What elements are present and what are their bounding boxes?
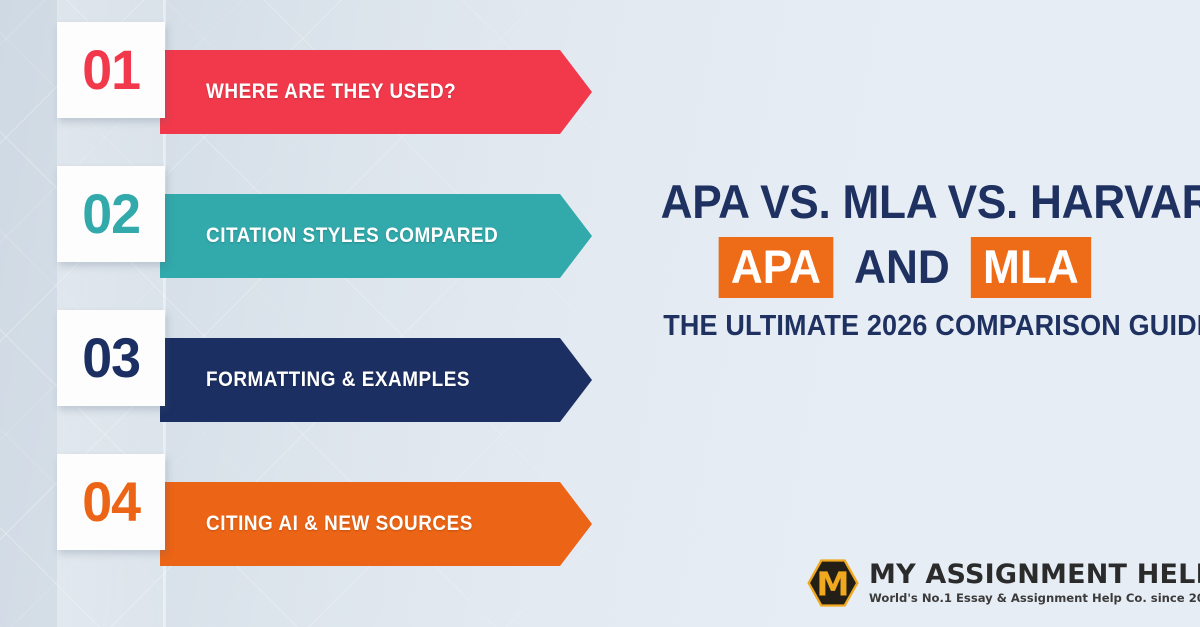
step-item: FORMATTING & EXAMPLES 03 bbox=[0, 310, 640, 450]
headline-title: APA VS. MLA VS. HARVARD bbox=[661, 178, 1150, 225]
steps-list: WHERE ARE THEY USED? 01 CITATION STYLES … bbox=[0, 0, 640, 627]
step-number: 04 bbox=[82, 474, 140, 530]
headline-chip-mla: MLA bbox=[971, 237, 1091, 298]
logo-tagline: World's No.1 Essay & Assignment Help Co.… bbox=[869, 592, 1200, 605]
svg-text:M: M bbox=[816, 565, 849, 604]
step-item: CITING AI & NEW SOURCES 04 bbox=[0, 454, 640, 594]
step-item: WHERE ARE THEY USED? 01 bbox=[0, 22, 640, 162]
step-number-card: 04 bbox=[57, 454, 165, 550]
brand-logo[interactable]: M MY ASSIGNMENT HELP World's No.1 Essay … bbox=[806, 556, 1200, 610]
step-number-card: 02 bbox=[57, 166, 165, 262]
headline-and-word: AND bbox=[841, 237, 963, 298]
hexagon-m-logo-icon: M bbox=[806, 556, 860, 610]
headline-chip-apa: APA bbox=[719, 237, 833, 298]
step-arrow[interactable]: FORMATTING & EXAMPLES bbox=[160, 338, 592, 422]
step-label: WHERE ARE THEY USED? bbox=[206, 80, 456, 104]
step-number-card: 03 bbox=[57, 310, 165, 406]
step-item: CITATION STYLES COMPARED 02 bbox=[0, 166, 640, 306]
step-label: FORMATTING & EXAMPLES bbox=[206, 368, 470, 392]
step-number: 02 bbox=[82, 186, 140, 242]
headline-subtitle-row: APA AND MLA bbox=[645, 237, 1165, 298]
step-label: CITING AI & NEW SOURCES bbox=[206, 512, 473, 536]
step-label: CITATION STYLES COMPARED bbox=[206, 224, 498, 248]
logo-text-block: MY ASSIGNMENT HELP World's No.1 Essay & … bbox=[869, 561, 1200, 605]
logo-wordmark: MY ASSIGNMENT HELP bbox=[869, 561, 1200, 589]
step-arrow[interactable]: CITING AI & NEW SOURCES bbox=[160, 482, 592, 566]
headline-block: APA VS. MLA VS. HARVARD APA AND MLA THE … bbox=[645, 178, 1165, 341]
step-number: 03 bbox=[82, 330, 140, 386]
headline-tagline: THE ULTIMATE 2026 COMPARISON GUIDE bbox=[663, 312, 1147, 341]
step-arrow[interactable]: WHERE ARE THEY USED? bbox=[160, 50, 592, 134]
step-number: 01 bbox=[82, 42, 140, 98]
step-arrow[interactable]: CITATION STYLES COMPARED bbox=[160, 194, 592, 278]
step-number-card: 01 bbox=[57, 22, 165, 118]
infographic-poster: WHERE ARE THEY USED? 01 CITATION STYLES … bbox=[0, 0, 1200, 627]
